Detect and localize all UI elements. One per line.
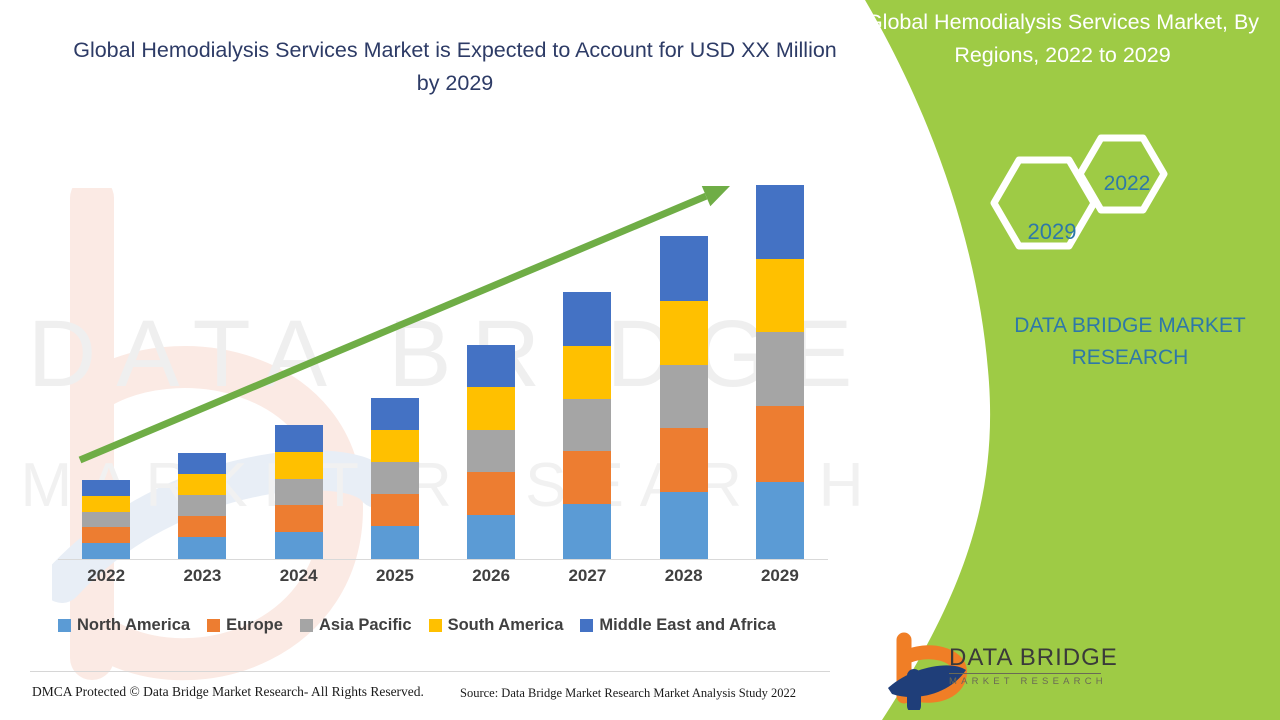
bar-segment [467, 387, 515, 430]
stacked-bar[interactable] [371, 398, 419, 559]
infographic-root: DATA BRIDGE MARKET RESEARCH Global Hemod… [0, 0, 1280, 720]
bar-segment [756, 406, 804, 482]
legend-item[interactable]: Asia Pacific [300, 616, 412, 635]
stacked-bar[interactable] [82, 480, 130, 559]
bar-segment [660, 301, 708, 365]
bar-segment [178, 537, 226, 559]
stacked-bar[interactable] [467, 345, 515, 559]
x-axis-line [58, 559, 828, 560]
bar-segment [275, 425, 323, 452]
bar-segment [756, 332, 804, 406]
bar-segment [563, 451, 611, 504]
logo-line2: MARKET RESEARCH [949, 676, 1118, 687]
hexagon-badges [975, 130, 1190, 290]
legend-label: Europe [226, 616, 283, 635]
x-axis-label: 2028 [636, 566, 732, 586]
bar-segment [275, 505, 323, 532]
legend-label: South America [448, 616, 564, 635]
logo-line1: DATA BRIDGE [949, 644, 1118, 672]
bar-segment [82, 512, 130, 527]
brand-name: DATA BRIDGE MARKET RESEARCH [990, 310, 1270, 374]
x-axis-label: 2025 [347, 566, 443, 586]
chart-plot-area [58, 150, 828, 560]
panel-title: Global Hemodialysis Services Market, By … [845, 6, 1280, 72]
legend-item[interactable]: South America [429, 616, 564, 635]
bar-segment [371, 398, 419, 430]
stacked-bar[interactable] [756, 185, 804, 559]
bar-segment [178, 474, 226, 495]
bar-segment [371, 526, 419, 559]
bar-segment [178, 453, 226, 474]
x-axis-label: 2026 [443, 566, 539, 586]
legend-swatch-icon [300, 619, 313, 632]
bar-segment [660, 428, 708, 492]
legend-swatch-icon [207, 619, 220, 632]
bar-segment [275, 532, 323, 559]
bar-segment [275, 479, 323, 505]
bar-segment [467, 430, 515, 472]
legend-item[interactable]: Europe [207, 616, 283, 635]
bar-segment [275, 452, 323, 479]
legend-swatch-icon [580, 619, 593, 632]
legend-swatch-icon [429, 619, 442, 632]
bar-segment [82, 496, 130, 512]
bar-segment [563, 292, 611, 346]
bar-column [539, 292, 635, 559]
footer-divider [30, 671, 830, 672]
bar-group [58, 150, 828, 559]
bar-segment [82, 527, 130, 543]
bar-segment [660, 492, 708, 559]
bar-column [443, 345, 539, 559]
source-note: Source: Data Bridge Market Research Mark… [460, 686, 796, 701]
bar-segment [563, 399, 611, 451]
x-axis-label: 2022 [58, 566, 154, 586]
bar-segment [371, 430, 419, 462]
x-axis-label: 2024 [251, 566, 347, 586]
bar-segment [82, 543, 130, 559]
legend-item[interactable]: North America [58, 616, 190, 635]
chart-title: Global Hemodialysis Services Market is E… [60, 34, 850, 100]
legend-swatch-icon [58, 619, 71, 632]
x-axis-label: 2029 [732, 566, 828, 586]
bar-segment [756, 259, 804, 332]
logo-wordmark: DATA BRIDGE MARKET RESEARCH [949, 644, 1118, 687]
legend-item[interactable]: Middle East and Africa [580, 616, 775, 635]
hexagon-2022-label: 2022 [1088, 172, 1166, 196]
bar-segment [467, 515, 515, 559]
bar-column [636, 236, 732, 559]
bar-column [347, 398, 443, 559]
bar-segment [82, 480, 130, 496]
x-axis-label: 2023 [154, 566, 250, 586]
x-axis-label: 2027 [539, 566, 635, 586]
legend-label: Middle East and Africa [599, 616, 775, 635]
bar-segment [467, 345, 515, 387]
bar-segment [660, 236, 708, 301]
bar-column [58, 480, 154, 559]
bar-segment [371, 462, 419, 494]
bar-segment [756, 482, 804, 559]
bar-segment [563, 504, 611, 559]
bar-segment [371, 494, 419, 526]
bar-segment [178, 495, 226, 516]
bar-segment [467, 472, 515, 515]
logo-underline [949, 673, 1101, 674]
bar-segment [178, 516, 226, 537]
legend-label: North America [77, 616, 190, 635]
dmca-notice: DMCA Protected © Data Bridge Market Rese… [32, 684, 424, 700]
bar-segment [563, 346, 611, 399]
bar-column [732, 185, 828, 559]
bar-segment [660, 365, 708, 428]
stacked-bar[interactable] [178, 453, 226, 559]
bar-column [251, 425, 347, 559]
stacked-bar[interactable] [563, 292, 611, 559]
stacked-bar[interactable] [660, 236, 708, 559]
bar-column [154, 453, 250, 559]
legend-label: Asia Pacific [319, 616, 412, 635]
stacked-bar[interactable] [275, 425, 323, 559]
x-axis-labels: 20222023202420252026202720282029 [58, 566, 828, 586]
chart-legend: North AmericaEuropeAsia PacificSouth Ame… [58, 616, 848, 635]
bar-segment [756, 185, 804, 259]
hexagon-2029-label: 2029 [1007, 219, 1097, 245]
